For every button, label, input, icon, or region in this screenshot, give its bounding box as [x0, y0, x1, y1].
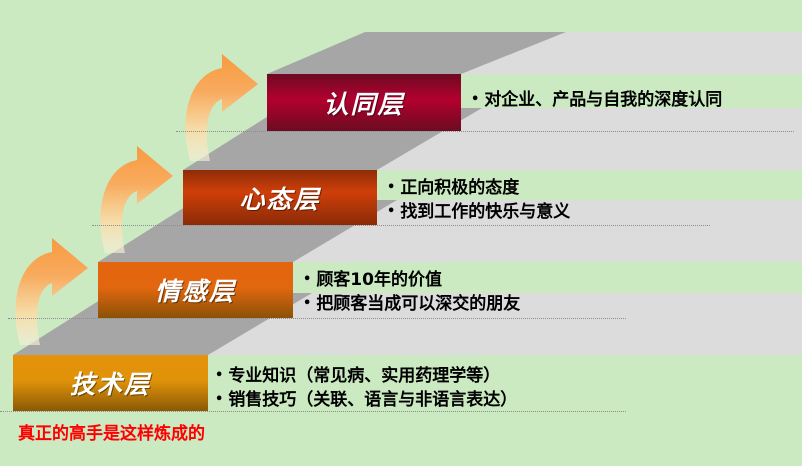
bullet-group-1: 专业知识（常见病、实用药理学等） 销售技巧（关联、语言与非语言表达） — [215, 364, 517, 412]
level-label-2: 情感层 — [98, 262, 293, 318]
level-label-text: 心态层 — [239, 180, 320, 216]
bullet-item: 顾客10年的价值 — [303, 268, 520, 292]
separator-line-3 — [92, 225, 710, 226]
bullet-item: 找到工作的快乐与意义 — [387, 200, 570, 224]
bullet-item: 把顾客当成可以深交的朋友 — [303, 292, 520, 316]
bullet-item: 对企业、产品与自我的深度认同 — [471, 88, 722, 112]
separator-line-4 — [176, 131, 794, 132]
footer-note: 真正的高手是这样炼成的 — [18, 419, 205, 444]
level-label-text: 认同层 — [323, 85, 404, 121]
level-label-text: 情感层 — [155, 272, 236, 308]
level-label-3: 心态层 — [183, 170, 377, 225]
bullet-item: 正向积极的态度 — [387, 176, 570, 200]
level-label-text: 技术层 — [70, 365, 151, 401]
separator-line-2 — [8, 318, 626, 319]
bullet-group-2: 顾客10年的价值 把顾客当成可以深交的朋友 — [303, 268, 520, 316]
diagram-canvas: 认同层 心态层 情感层 技术层 对企业、产品与自我的深度认同 正向积极的态度 找… — [0, 0, 802, 466]
level-label-1: 技术层 — [13, 355, 208, 411]
bullet-group-4: 对企业、产品与自我的深度认同 — [471, 88, 722, 112]
bullet-item: 销售技巧（关联、语言与非语言表达） — [215, 388, 517, 412]
step-surface-4 — [267, 32, 802, 74]
bullet-group-3: 正向积极的态度 找到工作的快乐与意义 — [387, 176, 570, 224]
bullet-item: 专业知识（常见病、实用药理学等） — [215, 364, 517, 388]
level-label-4: 认同层 — [267, 74, 461, 131]
